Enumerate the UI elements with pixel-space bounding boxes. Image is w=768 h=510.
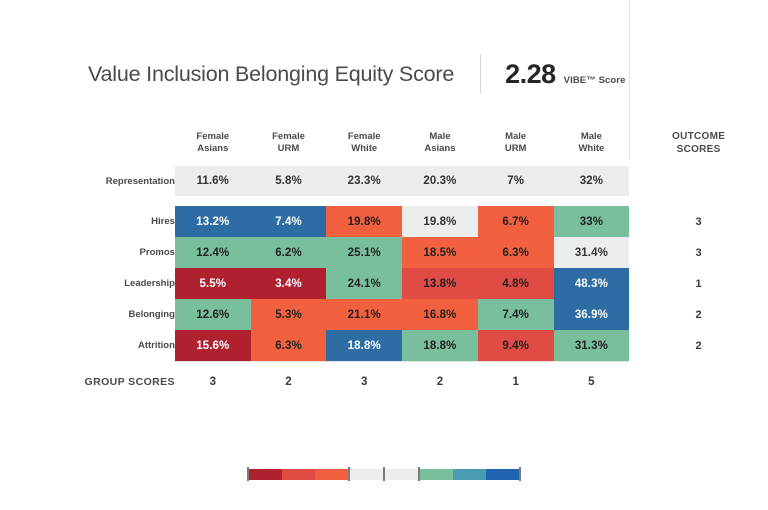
cell-value: 20.3% (402, 166, 478, 196)
cell-value: 25.1% (326, 237, 402, 268)
legend-segment-above-average (420, 469, 453, 480)
column-header-line1: Female (175, 131, 251, 144)
cell-promos-female-asians[interactable]: 12.4% (175, 237, 251, 268)
legend-segment-low (282, 469, 315, 480)
cell-leadership-female-urm[interactable]: 3.4% (251, 268, 327, 299)
cell-promos-male-asians[interactable]: 18.5% (402, 237, 478, 268)
cell-value: 15.6% (175, 330, 251, 361)
cell-value: 7% (478, 166, 554, 196)
header: Value Inclusion Belonging Equity Score 2… (88, 52, 626, 96)
table-row: Representation 11.6% 5.8% 23.3% 20.3% 7%… (0, 166, 768, 196)
cell-value: 33% (554, 206, 630, 237)
cell-hires-female-white[interactable]: 19.8% (326, 206, 402, 237)
column-header-line2: Asians (402, 143, 478, 156)
legend-segment-very-high (486, 469, 519, 480)
cell-value: 16.8% (402, 299, 478, 330)
column-header-line1: Male (554, 131, 630, 144)
legend-segment-below-average (315, 469, 348, 480)
cell-value: 5.8% (251, 166, 327, 196)
cell-representation-male-white[interactable]: 32% (554, 166, 630, 196)
scorecard-grid: Female Asians Female URM Female White Ma… (0, 120, 768, 402)
row-label-belonging: Belonging (0, 299, 175, 330)
column-header-male-asians: Male Asians (402, 120, 478, 166)
cell-hires-female-asians[interactable]: 13.2% (175, 206, 251, 237)
cell-promos-male-white[interactable]: 31.4% (554, 237, 630, 268)
legend-segment-neutral-left (350, 469, 383, 480)
cell-value: 32% (554, 166, 630, 196)
cell-value: 13.2% (175, 206, 251, 237)
cell-value: 36.9% (554, 299, 630, 330)
group-score-female-white: 3 (326, 362, 402, 402)
outcome-header-line2: SCORES (629, 143, 768, 156)
outcome-score-belonging: 2 (629, 299, 768, 330)
column-header-male-urm: Male URM (478, 120, 554, 166)
cell-promos-female-urm[interactable]: 6.2% (251, 237, 327, 268)
cell-value: 19.8% (326, 206, 402, 237)
cell-value: 19.8% (402, 206, 478, 237)
cell-value: 23.3% (326, 166, 402, 196)
group-score-male-urm: 1 (478, 362, 554, 402)
row-label-leadership: Leadership (0, 268, 175, 299)
vibe-score-label: VIBE™ Score (564, 75, 626, 86)
cell-value: 4.8% (478, 268, 554, 299)
vibe-scorecard-page: Value Inclusion Belonging Equity Score 2… (0, 0, 768, 510)
legend-segment-neutral-right (385, 469, 418, 480)
column-header-line2: URM (251, 143, 327, 156)
column-header-female-asians: Female Asians (175, 120, 251, 166)
row-label-representation: Representation (0, 166, 175, 196)
cell-value: 3.4% (251, 268, 327, 299)
legend-scale (247, 466, 521, 482)
legend-segment-very-low (249, 469, 282, 480)
outcome-score-promos: 3 (629, 237, 768, 268)
cell-representation-female-urm[interactable]: 5.8% (251, 166, 327, 196)
cell-value: 13.8% (402, 268, 478, 299)
column-header-line2: White (326, 143, 402, 156)
header-corner-spacer (0, 120, 175, 166)
cell-value: 18.8% (402, 330, 478, 361)
outcome-header-line1: OUTCOME (629, 130, 768, 143)
cell-belonging-female-urm[interactable]: 5.3% (251, 299, 327, 330)
cell-leadership-female-white[interactable]: 24.1% (326, 268, 402, 299)
row-label-hires: Hires (0, 206, 175, 237)
group-scores-label: GROUP SCORES (0, 362, 175, 402)
table-row: Promos 12.4% 6.2% 25.1% 18.5% 6.3% 31.4%… (0, 237, 768, 268)
page-title: Value Inclusion Belonging Equity Score (88, 62, 454, 87)
cell-value: 6.7% (478, 206, 554, 237)
cell-belonging-female-white[interactable]: 21.1% (326, 299, 402, 330)
group-score-male-white: 5 (554, 362, 630, 402)
table-row: Attrition 15.6% 6.3% 18.8% 18.8% 9.4% 31… (0, 330, 768, 361)
cell-promos-female-white[interactable]: 25.1% (326, 237, 402, 268)
column-header-line2: URM (478, 143, 554, 156)
cell-value: 31.3% (554, 330, 630, 361)
scorecard-table: Female Asians Female URM Female White Ma… (0, 120, 768, 402)
table-row: Leadership 5.5% 3.4% 24.1% 13.8% 4.8% 48… (0, 268, 768, 299)
cell-hires-male-urm[interactable]: 6.7% (478, 206, 554, 237)
column-header-line1: Male (478, 131, 554, 144)
outcome-score-hires: 3 (629, 206, 768, 237)
group-score-male-asians: 2 (402, 362, 478, 402)
cell-value: 12.4% (175, 237, 251, 268)
cell-value: 7.4% (478, 299, 554, 330)
cell-attrition-male-white[interactable]: 31.3% (554, 330, 630, 361)
legend-tick-end (519, 467, 521, 481)
cell-representation-female-white[interactable]: 23.3% (326, 166, 402, 196)
row-spacer (0, 196, 768, 206)
cell-leadership-male-asians[interactable]: 13.8% (402, 268, 478, 299)
cell-value: 12.6% (175, 299, 251, 330)
column-header-male-white: Male White (554, 120, 630, 166)
column-header-outcome-scores: OUTCOME SCORES (629, 120, 768, 166)
group-score-female-asians: 3 (175, 362, 251, 402)
cell-hires-male-asians[interactable]: 19.8% (402, 206, 478, 237)
column-header-line2: Asians (175, 143, 251, 156)
cell-representation-male-asians[interactable]: 20.3% (402, 166, 478, 196)
cell-belonging-male-urm[interactable]: 7.4% (478, 299, 554, 330)
column-header-female-white: Female White (326, 120, 402, 166)
cell-hires-male-white[interactable]: 33% (554, 206, 630, 237)
outcome-score-representation (629, 166, 768, 196)
cell-value: 31.4% (554, 237, 630, 268)
cell-attrition-male-urm[interactable]: 9.4% (478, 330, 554, 361)
table-row: Belonging 12.6% 5.3% 21.1% 16.8% 7.4% 36… (0, 299, 768, 330)
cell-leadership-male-urm[interactable]: 4.8% (478, 268, 554, 299)
legend-segment-high (453, 469, 486, 480)
cell-value: 21.1% (326, 299, 402, 330)
outcome-divider-line (629, 0, 630, 160)
column-header-line1: Female (251, 131, 327, 144)
cell-value: 6.2% (251, 237, 327, 268)
cell-value: 18.5% (402, 237, 478, 268)
cell-value: 24.1% (326, 268, 402, 299)
column-header-line1: Male (402, 131, 478, 144)
cell-attrition-female-white[interactable]: 18.8% (326, 330, 402, 361)
cell-leadership-female-asians[interactable]: 5.5% (175, 268, 251, 299)
legend (0, 466, 768, 482)
cell-value: 7.4% (251, 206, 327, 237)
group-scores-row: GROUP SCORES 3 2 3 2 1 5 (0, 362, 768, 402)
outcome-score-attrition: 2 (629, 330, 768, 361)
cell-value: 6.3% (478, 237, 554, 268)
cell-belonging-male-asians[interactable]: 16.8% (402, 299, 478, 330)
column-header-female-urm: Female URM (251, 120, 327, 166)
outcome-score-leadership: 1 (629, 268, 768, 299)
cell-promos-male-urm[interactable]: 6.3% (478, 237, 554, 268)
vibe-score-value: 2.28 (505, 59, 556, 90)
column-header-line2: White (554, 143, 630, 156)
row-label-attrition: Attrition (0, 330, 175, 361)
table-row: Hires 13.2% 7.4% 19.8% 19.8% 6.7% 33% 3 (0, 206, 768, 237)
column-header-row: Female Asians Female URM Female White Ma… (0, 120, 768, 166)
group-score-female-urm: 2 (251, 362, 327, 402)
cell-value: 5.3% (251, 299, 327, 330)
cell-value: 48.3% (554, 268, 630, 299)
row-label-promos: Promos (0, 237, 175, 268)
cell-belonging-female-asians[interactable]: 12.6% (175, 299, 251, 330)
cell-value: 9.4% (478, 330, 554, 361)
cell-attrition-female-asians[interactable]: 15.6% (175, 330, 251, 361)
cell-attrition-male-asians[interactable]: 18.8% (402, 330, 478, 361)
cell-value: 5.5% (175, 268, 251, 299)
cell-leadership-male-white[interactable]: 48.3% (554, 268, 630, 299)
cell-value: 18.8% (326, 330, 402, 361)
cell-value: 6.3% (251, 330, 327, 361)
column-header-line1: Female (326, 131, 402, 144)
cell-value: 11.6% (175, 166, 251, 196)
header-divider (480, 54, 481, 94)
cell-attrition-female-urm[interactable]: 6.3% (251, 330, 327, 361)
cell-belonging-male-white[interactable]: 36.9% (554, 299, 630, 330)
cell-representation-male-urm[interactable]: 7% (478, 166, 554, 196)
cell-representation-female-asians[interactable]: 11.6% (175, 166, 251, 196)
cell-hires-female-urm[interactable]: 7.4% (251, 206, 327, 237)
vibe-score-block: 2.28 VIBE™ Score (505, 59, 625, 90)
